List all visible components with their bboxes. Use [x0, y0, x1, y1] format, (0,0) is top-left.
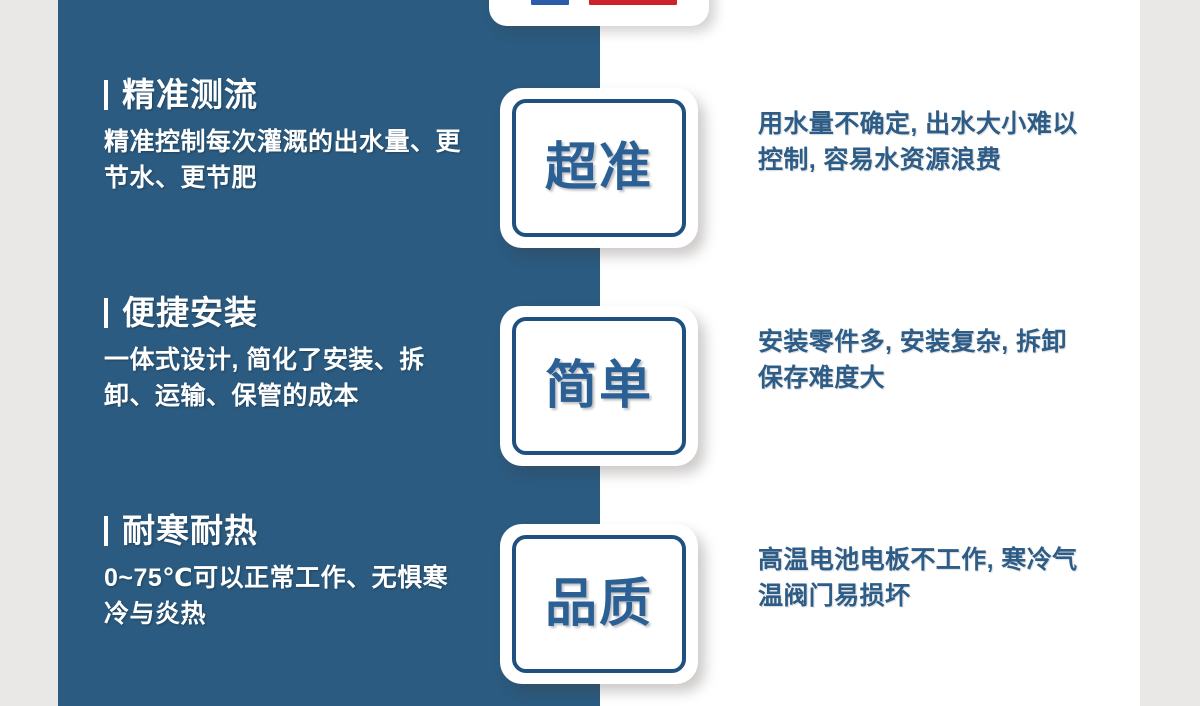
feature-block: 耐寒耐热 0~75℃可以正常工作、无惧寒冷与炎热: [104, 514, 484, 632]
feature-row: 精准测流 精准控制每次灌溉的出水量、更节水、更节肥 超准 用水量不确定, 出水大…: [0, 78, 1200, 260]
feature-row: 便捷安装 一体式设计, 简化了安装、拆卸、运输、保管的成本 简单 安装零件多, …: [0, 296, 1200, 478]
problem-description: 安装零件多, 安装复杂, 拆卸保存难度大: [758, 324, 1088, 397]
title-accent-bar-icon: [104, 80, 108, 110]
top-cutoff-card: [489, 0, 709, 26]
feature-title: 精准测流: [104, 78, 484, 111]
feature-title-label: 耐寒耐热: [122, 514, 258, 547]
feature-block: 便捷安装 一体式设计, 简化了安装、拆卸、运输、保管的成本: [104, 296, 484, 414]
feature-description: 0~75℃可以正常工作、无惧寒冷与炎热: [104, 561, 464, 632]
feature-row: 耐寒耐热 0~75℃可以正常工作、无惧寒冷与炎热 品质 高温电池电板不工作, 寒…: [0, 514, 1200, 696]
feature-title-label: 便捷安装: [122, 296, 258, 329]
title-accent-bar-icon: [104, 516, 108, 546]
title-accent-bar-icon: [104, 298, 108, 328]
feature-title: 耐寒耐热: [104, 514, 484, 547]
badge-inner-frame: 简单: [512, 317, 686, 455]
badge-inner-frame: 品质: [512, 535, 686, 673]
badge-card: 超准: [500, 88, 698, 248]
badge-label: 简单: [545, 360, 653, 412]
badge-card: 品质: [500, 524, 698, 684]
product-feature-comparison-page: 精准测流 精准控制每次灌溉的出水量、更节水、更节肥 超准 用水量不确定, 出水大…: [0, 0, 1200, 706]
top-card-blue-bar: [531, 0, 569, 5]
top-card-red-bar: [589, 0, 677, 5]
badge-label: 品质: [545, 578, 653, 630]
problem-description: 高温电池电板不工作, 寒冷气温阀门易损坏: [758, 542, 1088, 615]
feature-description: 一体式设计, 简化了安装、拆卸、运输、保管的成本: [104, 343, 464, 414]
feature-block: 精准测流 精准控制每次灌溉的出水量、更节水、更节肥: [104, 78, 484, 196]
feature-title-label: 精准测流: [122, 78, 258, 111]
feature-description: 精准控制每次灌溉的出水量、更节水、更节肥: [104, 125, 464, 196]
badge-label: 超准: [545, 142, 653, 194]
badge-inner-frame: 超准: [512, 99, 686, 237]
badge-card: 简单: [500, 306, 698, 466]
feature-title: 便捷安装: [104, 296, 484, 329]
problem-description: 用水量不确定, 出水大小难以控制, 容易水资源浪费: [758, 106, 1088, 179]
